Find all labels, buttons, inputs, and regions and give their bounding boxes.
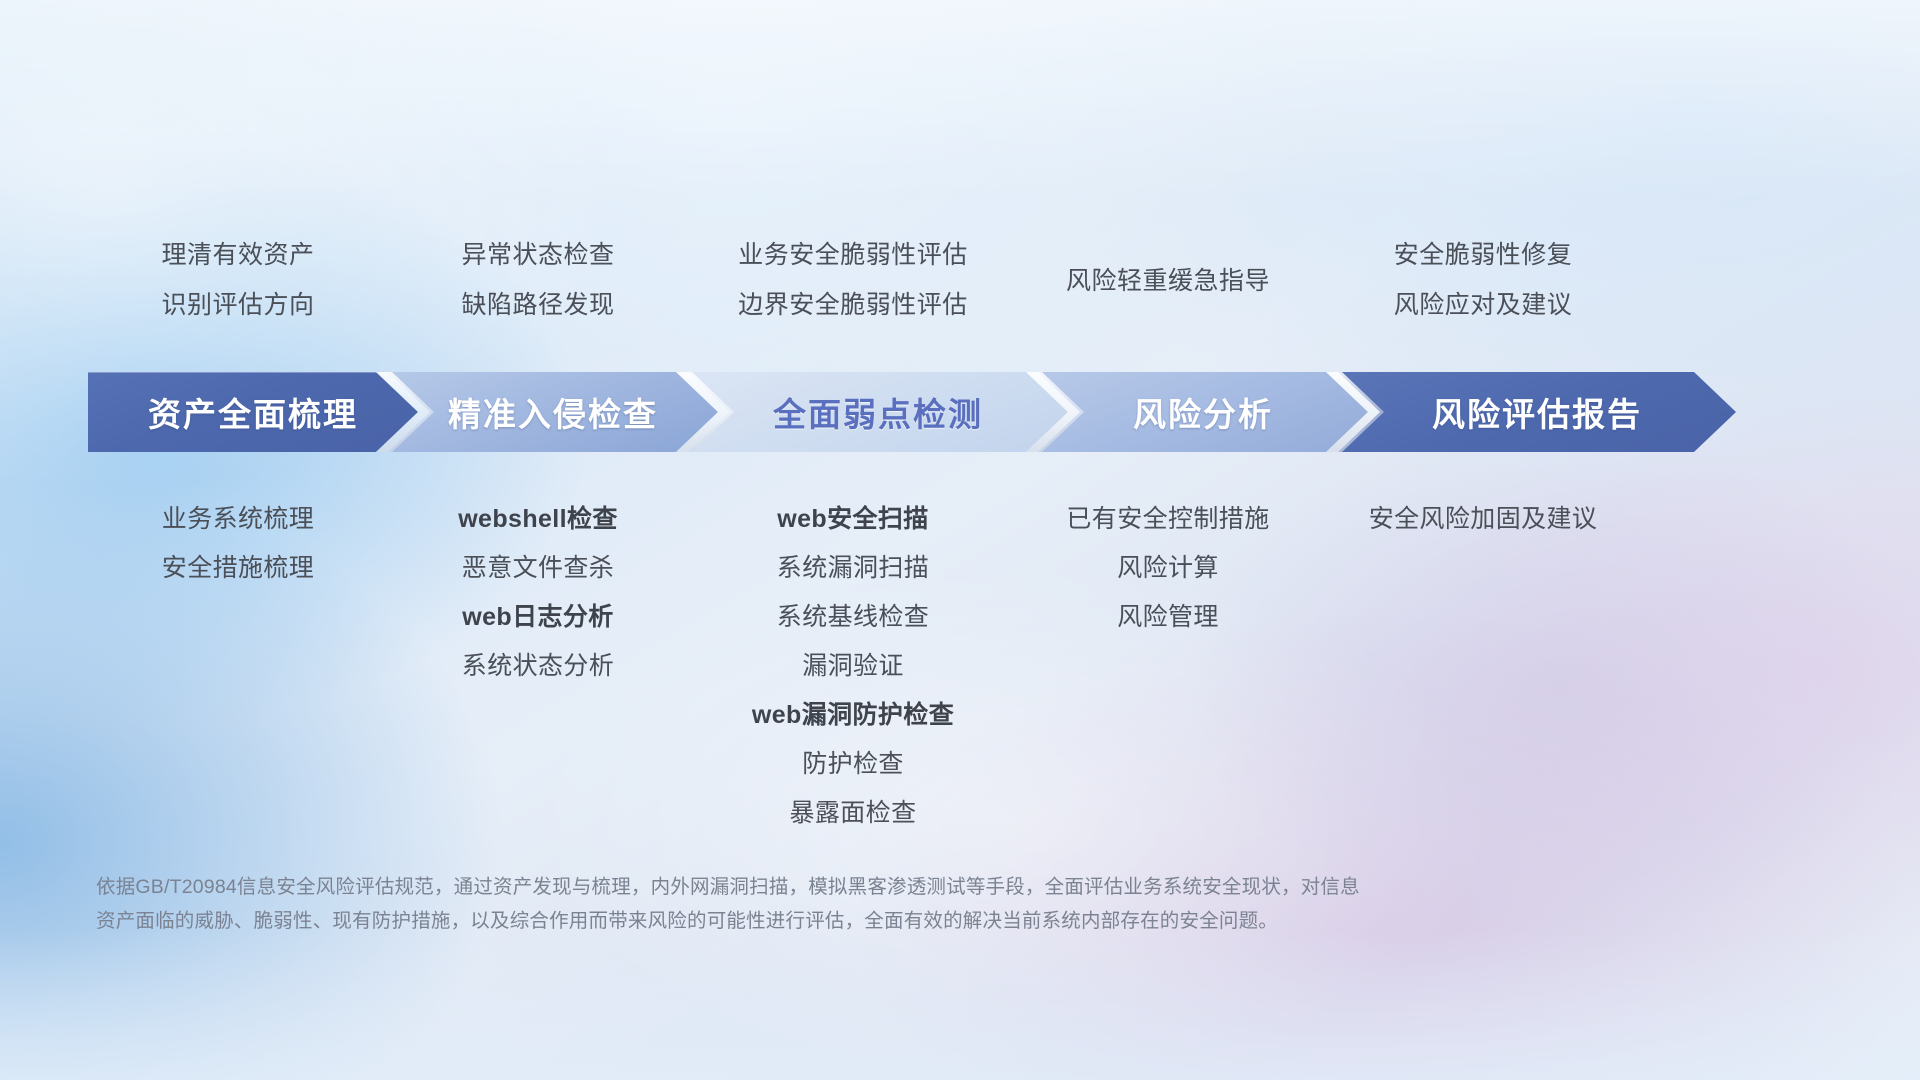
stage-chevron-1[interactable]: 资产全面梳理 xyxy=(88,372,418,452)
list-item: 暴露面检查 xyxy=(688,789,1018,838)
slide-canvas: 理清有效资产 识别评估方向 异常状态检查 缺陷路径发现 业务安全脆弱性评估 边界… xyxy=(0,0,1920,1080)
list-item: web漏洞防护检查 xyxy=(688,691,1018,740)
stage-chevron-label: 资产全面梳理 xyxy=(148,388,358,436)
stage-1-bottom-items: 业务系统梳理 安全措施梳理 xyxy=(88,495,388,593)
stage-chevron-label: 全面弱点检测 xyxy=(773,388,983,436)
list-item: 安全风险加固及建议 xyxy=(1318,495,1648,544)
stage-chevron-5[interactable]: 风险评估报告 xyxy=(1338,372,1736,452)
stage-chevron-label: 风险分析 xyxy=(1133,388,1273,436)
list-item: 恶意文件查杀 xyxy=(388,544,688,593)
footer-line: 依据GB/T20984信息安全风险评估规范，通过资产发现与梳理，内外网漏洞扫描，… xyxy=(96,870,1656,904)
stage-chevron-label: 精准入侵检查 xyxy=(448,388,658,436)
list-item: 已有安全控制措施 xyxy=(1018,495,1318,544)
list-item: 业务系统梳理 xyxy=(88,495,388,544)
list-item: 风险管理 xyxy=(1018,593,1318,642)
list-item: 系统基线检查 xyxy=(688,593,1018,642)
stage-chevron-label: 风险评估报告 xyxy=(1432,388,1642,436)
footer-line: 资产面临的威胁、脆弱性、现有防护措施，以及综合作用而带来风险的可能性进行评估，全… xyxy=(96,904,1656,938)
stage-chevron-2[interactable]: 精准入侵检查 xyxy=(388,372,718,452)
stage-4-bottom-items: 已有安全控制措施 风险计算 风险管理 xyxy=(1018,495,1318,642)
footer-description: 依据GB/T20984信息安全风险评估规范，通过资产发现与梳理，内外网漏洞扫描，… xyxy=(96,870,1656,938)
stage-chevron-4[interactable]: 风险分析 xyxy=(1038,372,1368,452)
list-item: 安全措施梳理 xyxy=(88,544,388,593)
list-item: webshell检查 xyxy=(388,495,688,544)
list-item: web安全扫描 xyxy=(688,495,1018,544)
list-item: 漏洞验证 xyxy=(688,642,1018,691)
process-chevron-band: 资产全面梳理 精准入侵检查 全面弱点检测 风险分析 风险评估报告 xyxy=(88,372,1852,452)
list-item: 系统漏洞扫描 xyxy=(688,544,1018,593)
list-item: 防护检查 xyxy=(688,740,1018,789)
stage-5-bottom-items: 安全风险加固及建议 xyxy=(1318,495,1648,544)
stage-chevron-3[interactable]: 全面弱点检测 xyxy=(688,372,1068,452)
stage-2-bottom-items: webshell检查 恶意文件查杀 web日志分析 系统状态分析 xyxy=(388,495,688,691)
list-item: web日志分析 xyxy=(388,593,688,642)
stage-3-bottom-items: web安全扫描 系统漏洞扫描 系统基线检查 漏洞验证 web漏洞防护检查 防护检… xyxy=(688,495,1018,838)
list-item: 风险计算 xyxy=(1018,544,1318,593)
list-item: 系统状态分析 xyxy=(388,642,688,691)
